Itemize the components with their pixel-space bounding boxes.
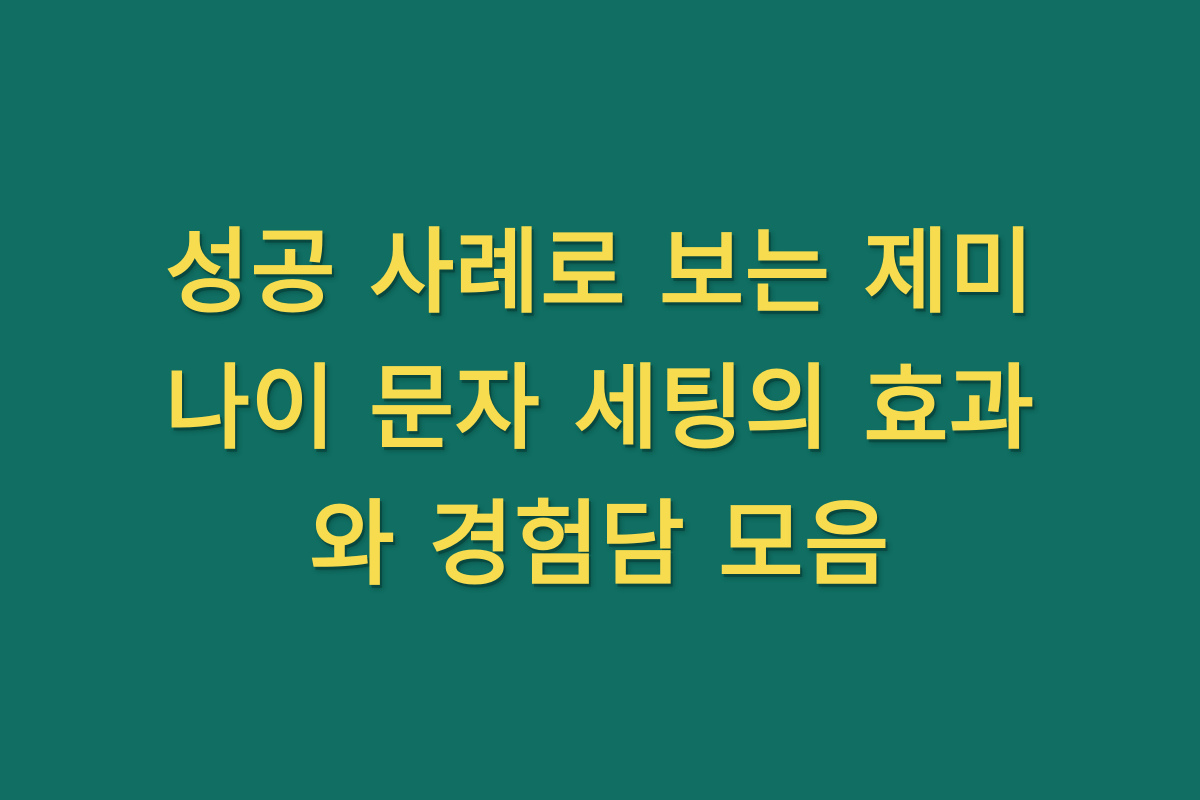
title-line-1: 성공 사례로 보는 제미 bbox=[70, 205, 1130, 341]
page-title: 성공 사례로 보는 제미 나이 문자 세팅의 효과 와 경험담 모음 bbox=[70, 187, 1130, 613]
title-line-3: 와 경험담 모음 bbox=[70, 477, 1130, 613]
thumbnail-card: 성공 사례로 보는 제미 나이 문자 세팅의 효과 와 경험담 모음 bbox=[0, 0, 1200, 800]
title-line-2: 나이 문자 세팅의 효과 bbox=[70, 341, 1130, 477]
